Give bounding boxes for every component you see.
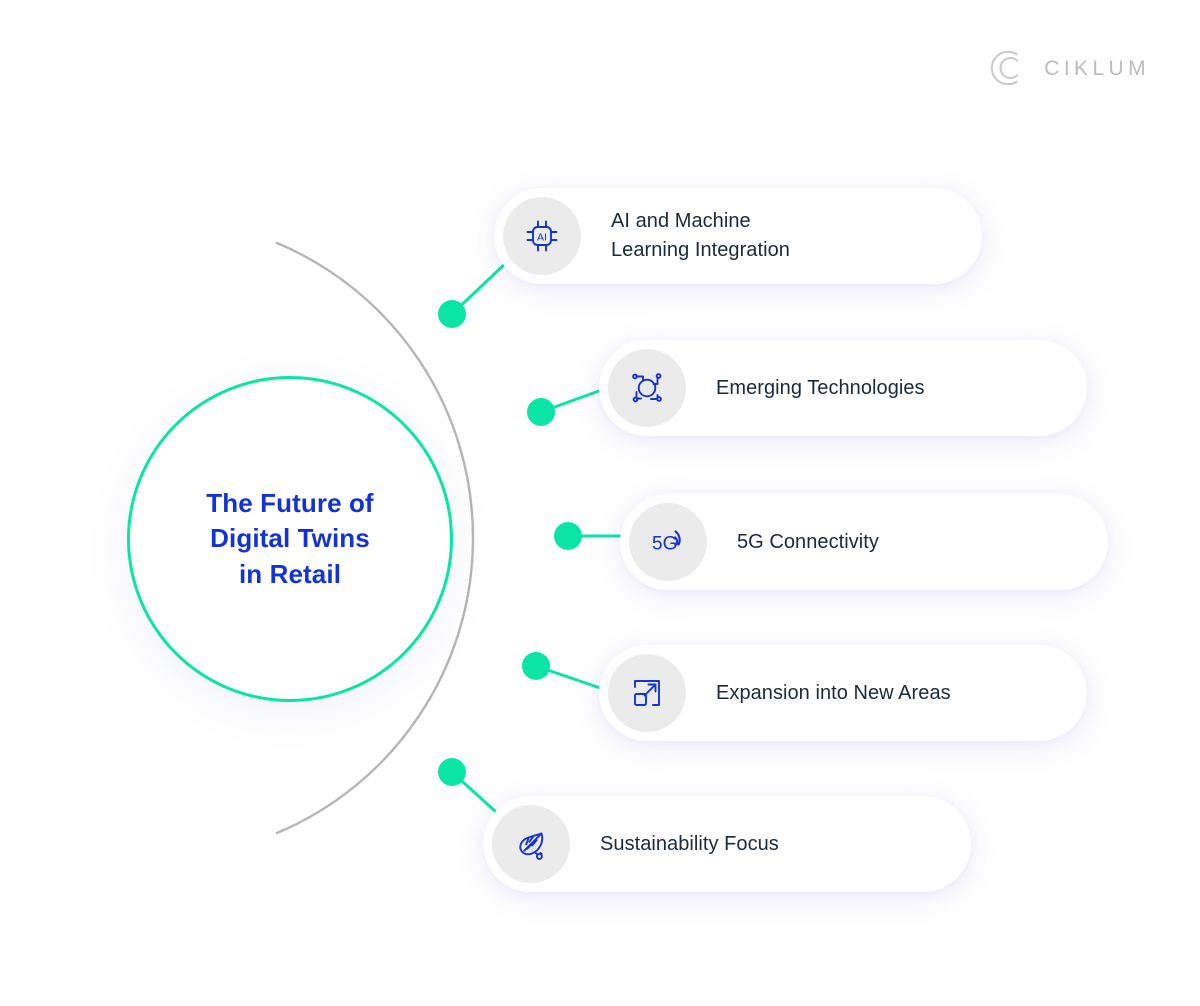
item-card-label: Emerging Technologies (716, 374, 925, 403)
node-dot-3[interactable] (522, 652, 550, 680)
svg-text:5G: 5G (652, 534, 677, 555)
connector-line-0 (452, 262, 507, 314)
network-nodes-icon (627, 368, 667, 408)
item-card-expansion-new-areas[interactable]: Expansion into New Areas (599, 645, 1087, 741)
ciklum-c-logo-icon (990, 48, 1030, 88)
leaf-plug-icon (511, 824, 551, 864)
central-hub: The Future of Digital Twins in Retail (127, 376, 453, 702)
node-dot-4[interactable] (438, 758, 466, 786)
icon-badge (608, 654, 686, 732)
connector-line-1 (541, 388, 607, 412)
icon-badge: AI (503, 197, 581, 275)
item-card-ai-machine-learning[interactable]: AI AI and Machine Learning Integration (494, 188, 982, 284)
icon-badge (608, 349, 686, 427)
svg-text:AI: AI (537, 232, 547, 244)
item-card-label: Expansion into New Areas (716, 679, 951, 708)
node-dot-2[interactable] (554, 522, 582, 550)
hub-title: The Future of Digital Twins in Retail (206, 486, 373, 591)
item-card-label: 5G Connectivity (737, 528, 879, 557)
icon-badge (492, 805, 570, 883)
connector-line-3 (536, 666, 606, 690)
connector-line-4 (452, 772, 496, 812)
item-card-emerging-technologies[interactable]: Emerging Technologies (599, 340, 1087, 436)
item-card-sustainability-focus[interactable]: Sustainability Focus (483, 796, 971, 892)
item-card-5g-connectivity[interactable]: 5G 5G Connectivity (620, 494, 1108, 590)
ai-chip-icon: AI (522, 216, 562, 256)
node-dot-0[interactable] (438, 300, 466, 328)
brand-logo: CIKLUM (990, 48, 1150, 88)
node-dot-1[interactable] (527, 398, 555, 426)
expand-arrow-icon (627, 673, 667, 713)
icon-badge: 5G (629, 503, 707, 581)
5g-signal-icon: 5G (647, 521, 689, 563)
infographic-canvas: CIKLUM The Future of Digital Twins in Re… (0, 0, 1200, 1006)
item-card-label: Sustainability Focus (600, 830, 779, 859)
item-card-label: AI and Machine Learning Integration (611, 207, 790, 265)
brand-wordmark: CIKLUM (1044, 58, 1150, 79)
